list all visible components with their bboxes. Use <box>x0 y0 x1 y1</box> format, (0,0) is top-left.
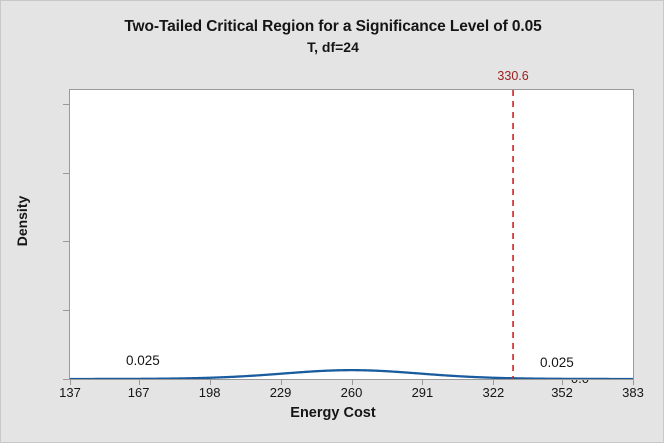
x-tick-label-2: 198 <box>185 385 235 400</box>
lower-region-area-label: 0.025 <box>126 353 160 368</box>
x-tick-label-4: 260 <box>327 385 377 400</box>
plot-area: 0.025 0.025 <box>69 89 634 380</box>
x-tick-label-3: 229 <box>256 385 306 400</box>
region-boundaries <box>210 378 494 379</box>
upper-region-area-label: 0.025 <box>540 355 574 370</box>
chart-title: Two-Tailed Critical Region for a Signifi… <box>1 17 664 37</box>
t-density-curve <box>70 370 633 379</box>
chart-figure: Two-Tailed Critical Region for a Signifi… <box>0 0 664 443</box>
x-tick-label-5: 291 <box>397 385 447 400</box>
x-tick-label-6: 322 <box>468 385 518 400</box>
chart-title-block: Two-Tailed Critical Region for a Signifi… <box>1 17 664 57</box>
density-curve-svg <box>70 90 633 379</box>
y-axis-title: Density <box>14 171 30 271</box>
chart-subtitle: T, df=24 <box>1 37 664 57</box>
x-axis-title: Energy Cost <box>1 405 664 421</box>
x-tick-label-0: 137 <box>45 385 95 400</box>
x-tick-label-1: 167 <box>114 385 164 400</box>
x-tick-label-7: 352 <box>537 385 587 400</box>
critical-value-label: 330.6 <box>483 69 543 83</box>
x-tick-label-8: 383 <box>608 385 658 400</box>
